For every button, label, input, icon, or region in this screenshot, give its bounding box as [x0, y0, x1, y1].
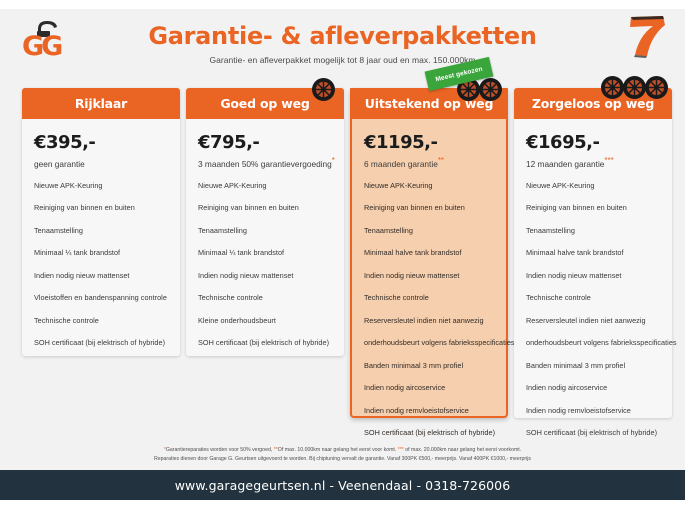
tire-icon — [478, 77, 503, 102]
feature-item: Indien nodig remvloeistofservice — [526, 406, 660, 416]
package-price: €395,- — [34, 132, 168, 154]
feature-item: Tenaamstelling — [34, 226, 168, 236]
feature-item: Reiniging van binnen en buiten — [364, 203, 494, 213]
feature-item: onderhoudsbeurt volgens fabrieksspecific… — [364, 338, 494, 348]
feature-item: Indien nodig aircoservice — [526, 383, 660, 393]
feature-item: Kleine onderhoudsbeurt — [198, 316, 332, 326]
package-name: Goed op weg — [220, 96, 309, 111]
tire-rating-3 — [600, 75, 669, 100]
top-white-strip — [0, 0, 685, 9]
tire-rating-1 — [311, 77, 336, 102]
feature-item: Minimaal halve tank brandstof — [526, 248, 660, 258]
footnotes: *Garantiereparaties worden voor 50% verg… — [0, 446, 685, 464]
package-card-zorgeloos-op-weg[interactable]: Zorgeloos op weg €1695,- 12 maanden gara… — [514, 88, 672, 418]
package-price-subtitle: 6 maanden garantie** — [364, 156, 494, 169]
price-sub-marker: ** — [438, 156, 444, 165]
feature-item: Nieuwe APK-Keuring — [34, 181, 168, 191]
feature-item: SOH certificaat (bij elektrisch of hybri… — [198, 338, 332, 348]
footnote-line-1: *Garantiereparaties worden voor 50% verg… — [60, 446, 625, 455]
feature-item: Reiniging van binnen en buiten — [526, 203, 660, 213]
feature-item: Indien nodig nieuw mattenset — [364, 271, 494, 281]
price-sub-text: 3 maanden 50% garantievergoeding — [198, 159, 332, 169]
feature-item: Nieuwe APK-Keuring — [198, 181, 332, 191]
feature-item: Technische controle — [34, 316, 168, 326]
feature-item: Vloeistoffen en bandenspanning controle — [34, 293, 168, 303]
package-body: €1195,- 6 maanden garantie** Nieuwe APK-… — [352, 119, 506, 438]
package-price-subtitle: 12 maanden garantie*** — [526, 156, 660, 169]
most-chosen-label: Meest gekozen — [435, 65, 484, 83]
feature-item: Minimaal halve tank brandstof — [364, 248, 494, 258]
page-subtitle: Garantie- en afleverpakket mogelijk tot … — [0, 55, 685, 65]
feature-item: Reiniging van binnen en buiten — [34, 203, 168, 213]
feature-item: Indien nodig remvloeistofservice — [364, 406, 494, 416]
package-price: €795,- — [198, 132, 332, 154]
package-body: €395,- geen garantie Nieuwe APK-Keuring … — [22, 119, 180, 348]
feature-item: Nieuwe APK-Keuring — [364, 181, 494, 191]
package-card-uitstekend-op-weg[interactable]: Uitstekend op weg €1195,- 6 maanden gara… — [350, 88, 508, 418]
feature-item: Banden minimaal 3 mm profiel — [526, 361, 660, 371]
feature-item: Indien nodig aircoservice — [364, 383, 494, 393]
package-card-goed-op-weg[interactable]: Goed op weg €795,- 3 maanden 50% garanti… — [186, 88, 344, 356]
package-price-subtitle: 3 maanden 50% garantievergoeding* — [198, 156, 332, 169]
feature-item: Tenaamstelling — [526, 226, 660, 236]
feature-item: Indien nodig nieuw mattenset — [198, 271, 332, 281]
feature-item: Tenaamstelling — [198, 226, 332, 236]
feature-item: Indien nodig nieuw mattenset — [526, 271, 660, 281]
tire-icon — [311, 77, 336, 102]
feature-item: Banden minimaal 3 mm profiel — [364, 361, 494, 371]
bottom-white-strip — [0, 500, 685, 514]
feature-item: Minimaal ¼ tank brandstof — [198, 248, 332, 258]
feature-item: Reiniging van binnen en buiten — [198, 203, 332, 213]
feature-item: Indien nodig nieuw mattenset — [34, 271, 168, 281]
tire-icon — [644, 75, 669, 100]
footer-contact-text: www.garagegeurtsen.nl - Veenendaal - 031… — [175, 478, 511, 493]
feature-item: Minimaal ¼ tank brandstof — [34, 248, 168, 258]
feature-item: SOH certificaat (bij elektrisch of hybri… — [34, 338, 168, 348]
footnote-line-2: Reparaties dienen door Garage G. Geurtse… — [60, 455, 625, 464]
feature-item: Reserversleutel indien niet aanwezig — [364, 316, 494, 326]
feature-item: onderhoudsbeurt volgens fabrieksspecific… — [526, 338, 660, 348]
feature-item: Technische controle — [364, 293, 494, 303]
package-price: €1195,- — [364, 132, 494, 154]
footer-contact-bar: www.garagegeurtsen.nl - Veenendaal - 031… — [0, 470, 685, 500]
pricing-poster: GG Garantie- & afleverpakketten Garantie… — [0, 0, 685, 514]
price-sub-text: 6 maanden garantie — [364, 159, 438, 169]
feature-item: SOH certificaat (bij elektrisch of hybri… — [364, 428, 494, 438]
package-price-subtitle: geen garantie — [34, 156, 168, 169]
price-sub-text: 12 maanden garantie — [526, 159, 604, 169]
package-body: €795,- 3 maanden 50% garantievergoeding*… — [186, 119, 344, 348]
feature-item: Nieuwe APK-Keuring — [526, 181, 660, 191]
feature-item: Reserversleutel indien niet aanwezig — [526, 316, 660, 326]
package-card-rijklaar[interactable]: Rijklaar €395,- geen garantie Nieuwe APK… — [22, 88, 180, 356]
package-body: €1695,- 12 maanden garantie*** Nieuwe AP… — [514, 119, 672, 438]
price-sub-text: geen garantie — [34, 159, 85, 169]
feature-item: Technische controle — [526, 293, 660, 303]
package-cards: Rijklaar €395,- geen garantie Nieuwe APK… — [0, 88, 685, 428]
price-sub-marker: *** — [604, 156, 613, 165]
feature-item: Technische controle — [198, 293, 332, 303]
feature-item: Tenaamstelling — [364, 226, 494, 236]
feature-item: SOH certificaat (bij elektrisch of hybri… — [526, 428, 660, 438]
page-title: Garantie- & afleverpakketten — [0, 22, 685, 50]
price-sub-marker: * — [332, 156, 335, 165]
package-name: Rijklaar — [75, 96, 127, 111]
package-header: Rijklaar — [22, 88, 180, 119]
package-price: €1695,- — [526, 132, 660, 154]
